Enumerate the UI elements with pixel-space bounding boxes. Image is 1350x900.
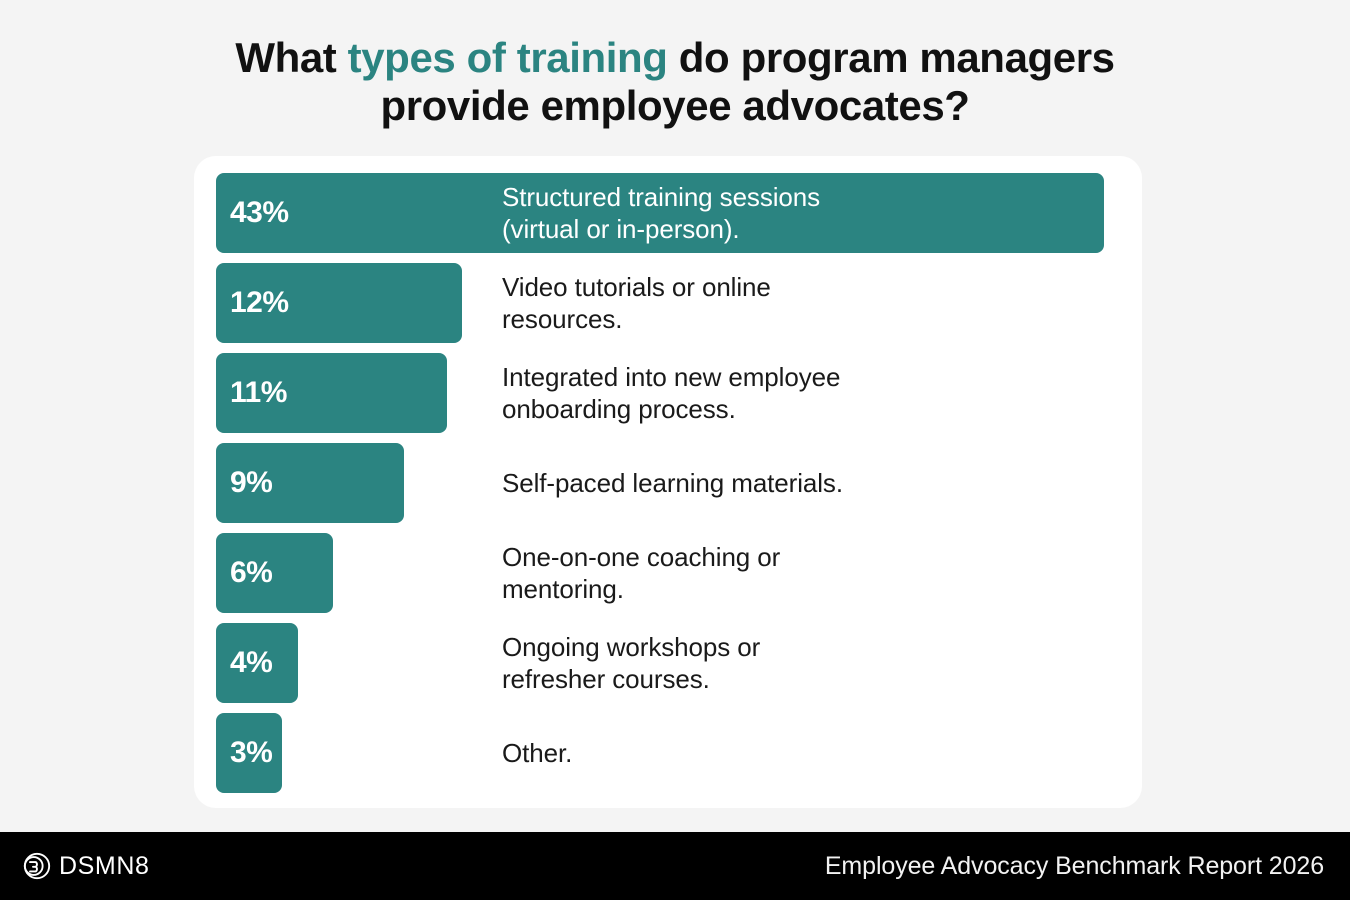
bar-value-label: 6%: [230, 558, 272, 588]
chart-row: 3%Other.: [216, 713, 1120, 793]
bar-category-label: One-on-one coaching or mentoring.: [502, 533, 780, 613]
chart-bar: 4%: [216, 623, 298, 703]
bar-value-label: 4%: [230, 648, 272, 678]
chart-row: 11%Integrated into new employee onboardi…: [216, 353, 1120, 433]
bar-chart: 43%Structured training sessions (virtual…: [216, 173, 1120, 793]
bar-category-label: Structured training sessions (virtual or…: [502, 173, 820, 253]
bar-category-label: Integrated into new employee onboarding …: [502, 353, 840, 433]
chart-row: 12%Video tutorials or online resources.: [216, 263, 1120, 343]
page-title-wrap: What types of training do program manage…: [0, 34, 1350, 130]
bar-value-label: 11%: [230, 378, 287, 408]
bar-value-label: 9%: [230, 468, 272, 498]
bar-value-label: 43%: [230, 198, 289, 228]
bar-category-label: Ongoing workshops or refresher courses.: [502, 623, 760, 703]
chart-row: 4%Ongoing workshops or refresher courses…: [216, 623, 1120, 703]
chart-row: 6%One-on-one coaching or mentoring.: [216, 533, 1120, 613]
title-part-1: What: [235, 34, 347, 81]
dsmn8-circle-mark-icon: [22, 851, 52, 881]
bar-value-label: 3%: [230, 738, 272, 768]
chart-row: 43%Structured training sessions (virtual…: [216, 173, 1120, 253]
footer-bar: DSMN8 Employee Advocacy Benchmark Report…: [0, 832, 1350, 900]
chart-bar: 11%: [216, 353, 447, 433]
brand-logo-text: DSMN8: [59, 852, 150, 881]
chart-card: 43%Structured training sessions (virtual…: [194, 156, 1142, 808]
chart-bar: 6%: [216, 533, 333, 613]
chart-bar: 3%: [216, 713, 282, 793]
bar-value-label: 12%: [230, 288, 289, 318]
chart-row: 9%Self-paced learning materials.: [216, 443, 1120, 523]
chart-bar: 12%: [216, 263, 462, 343]
page-title: What types of training do program manage…: [0, 34, 1350, 130]
footer-caption: Employee Advocacy Benchmark Report 2026: [825, 832, 1324, 900]
infographic-page: { "title": { "part1": "What ", "accent":…: [0, 0, 1350, 900]
title-accent: types of training: [348, 34, 668, 81]
bar-category-label: Self-paced learning materials.: [502, 443, 843, 523]
brand-logo[interactable]: DSMN8: [22, 832, 150, 900]
bar-category-label: Other.: [502, 713, 572, 793]
chart-bar: 9%: [216, 443, 404, 523]
bar-category-label: Video tutorials or online resources.: [502, 263, 771, 343]
